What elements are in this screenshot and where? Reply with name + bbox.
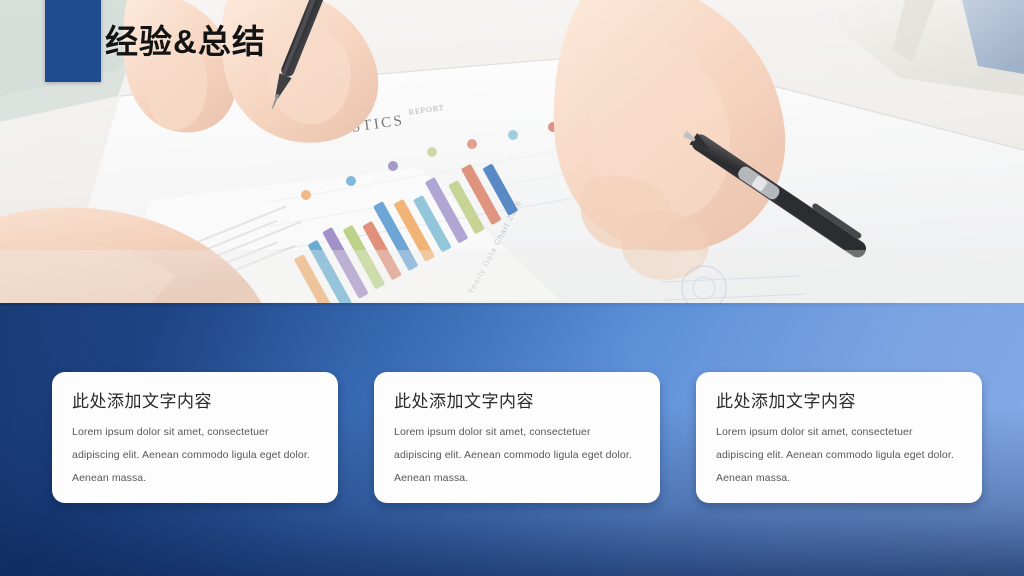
card-body-text: Lorem ipsum dolor sit amet, consectetuer… (716, 421, 962, 490)
card-heading: 此处添加文字内容 (394, 391, 640, 413)
content-card[interactable]: 此处添加文字内容 Lorem ipsum dolor sit amet, con… (52, 372, 338, 503)
card-body-text: Lorem ipsum dolor sit amet, consectetuer… (72, 421, 318, 490)
card-heading: 此处添加文字内容 (72, 391, 318, 413)
card-heading: 此处添加文字内容 (716, 391, 962, 413)
page-title: 经验&总结 (105, 19, 266, 65)
content-card[interactable]: 此处添加文字内容 Lorem ipsum dolor sit amet, con… (374, 372, 660, 503)
content-card[interactable]: 此处添加文字内容 Lorem ipsum dolor sit amet, con… (696, 372, 982, 503)
slide-canvas: STATISTICS REPORT Yearly Data Chart 2016 (0, 0, 1024, 576)
title-accent-bar (45, 0, 101, 82)
card-body-text: Lorem ipsum dolor sit amet, consectetuer… (394, 421, 640, 490)
panel-top-edge (0, 303, 1024, 306)
card-group: 此处添加文字内容 Lorem ipsum dolor sit amet, con… (0, 372, 1024, 503)
